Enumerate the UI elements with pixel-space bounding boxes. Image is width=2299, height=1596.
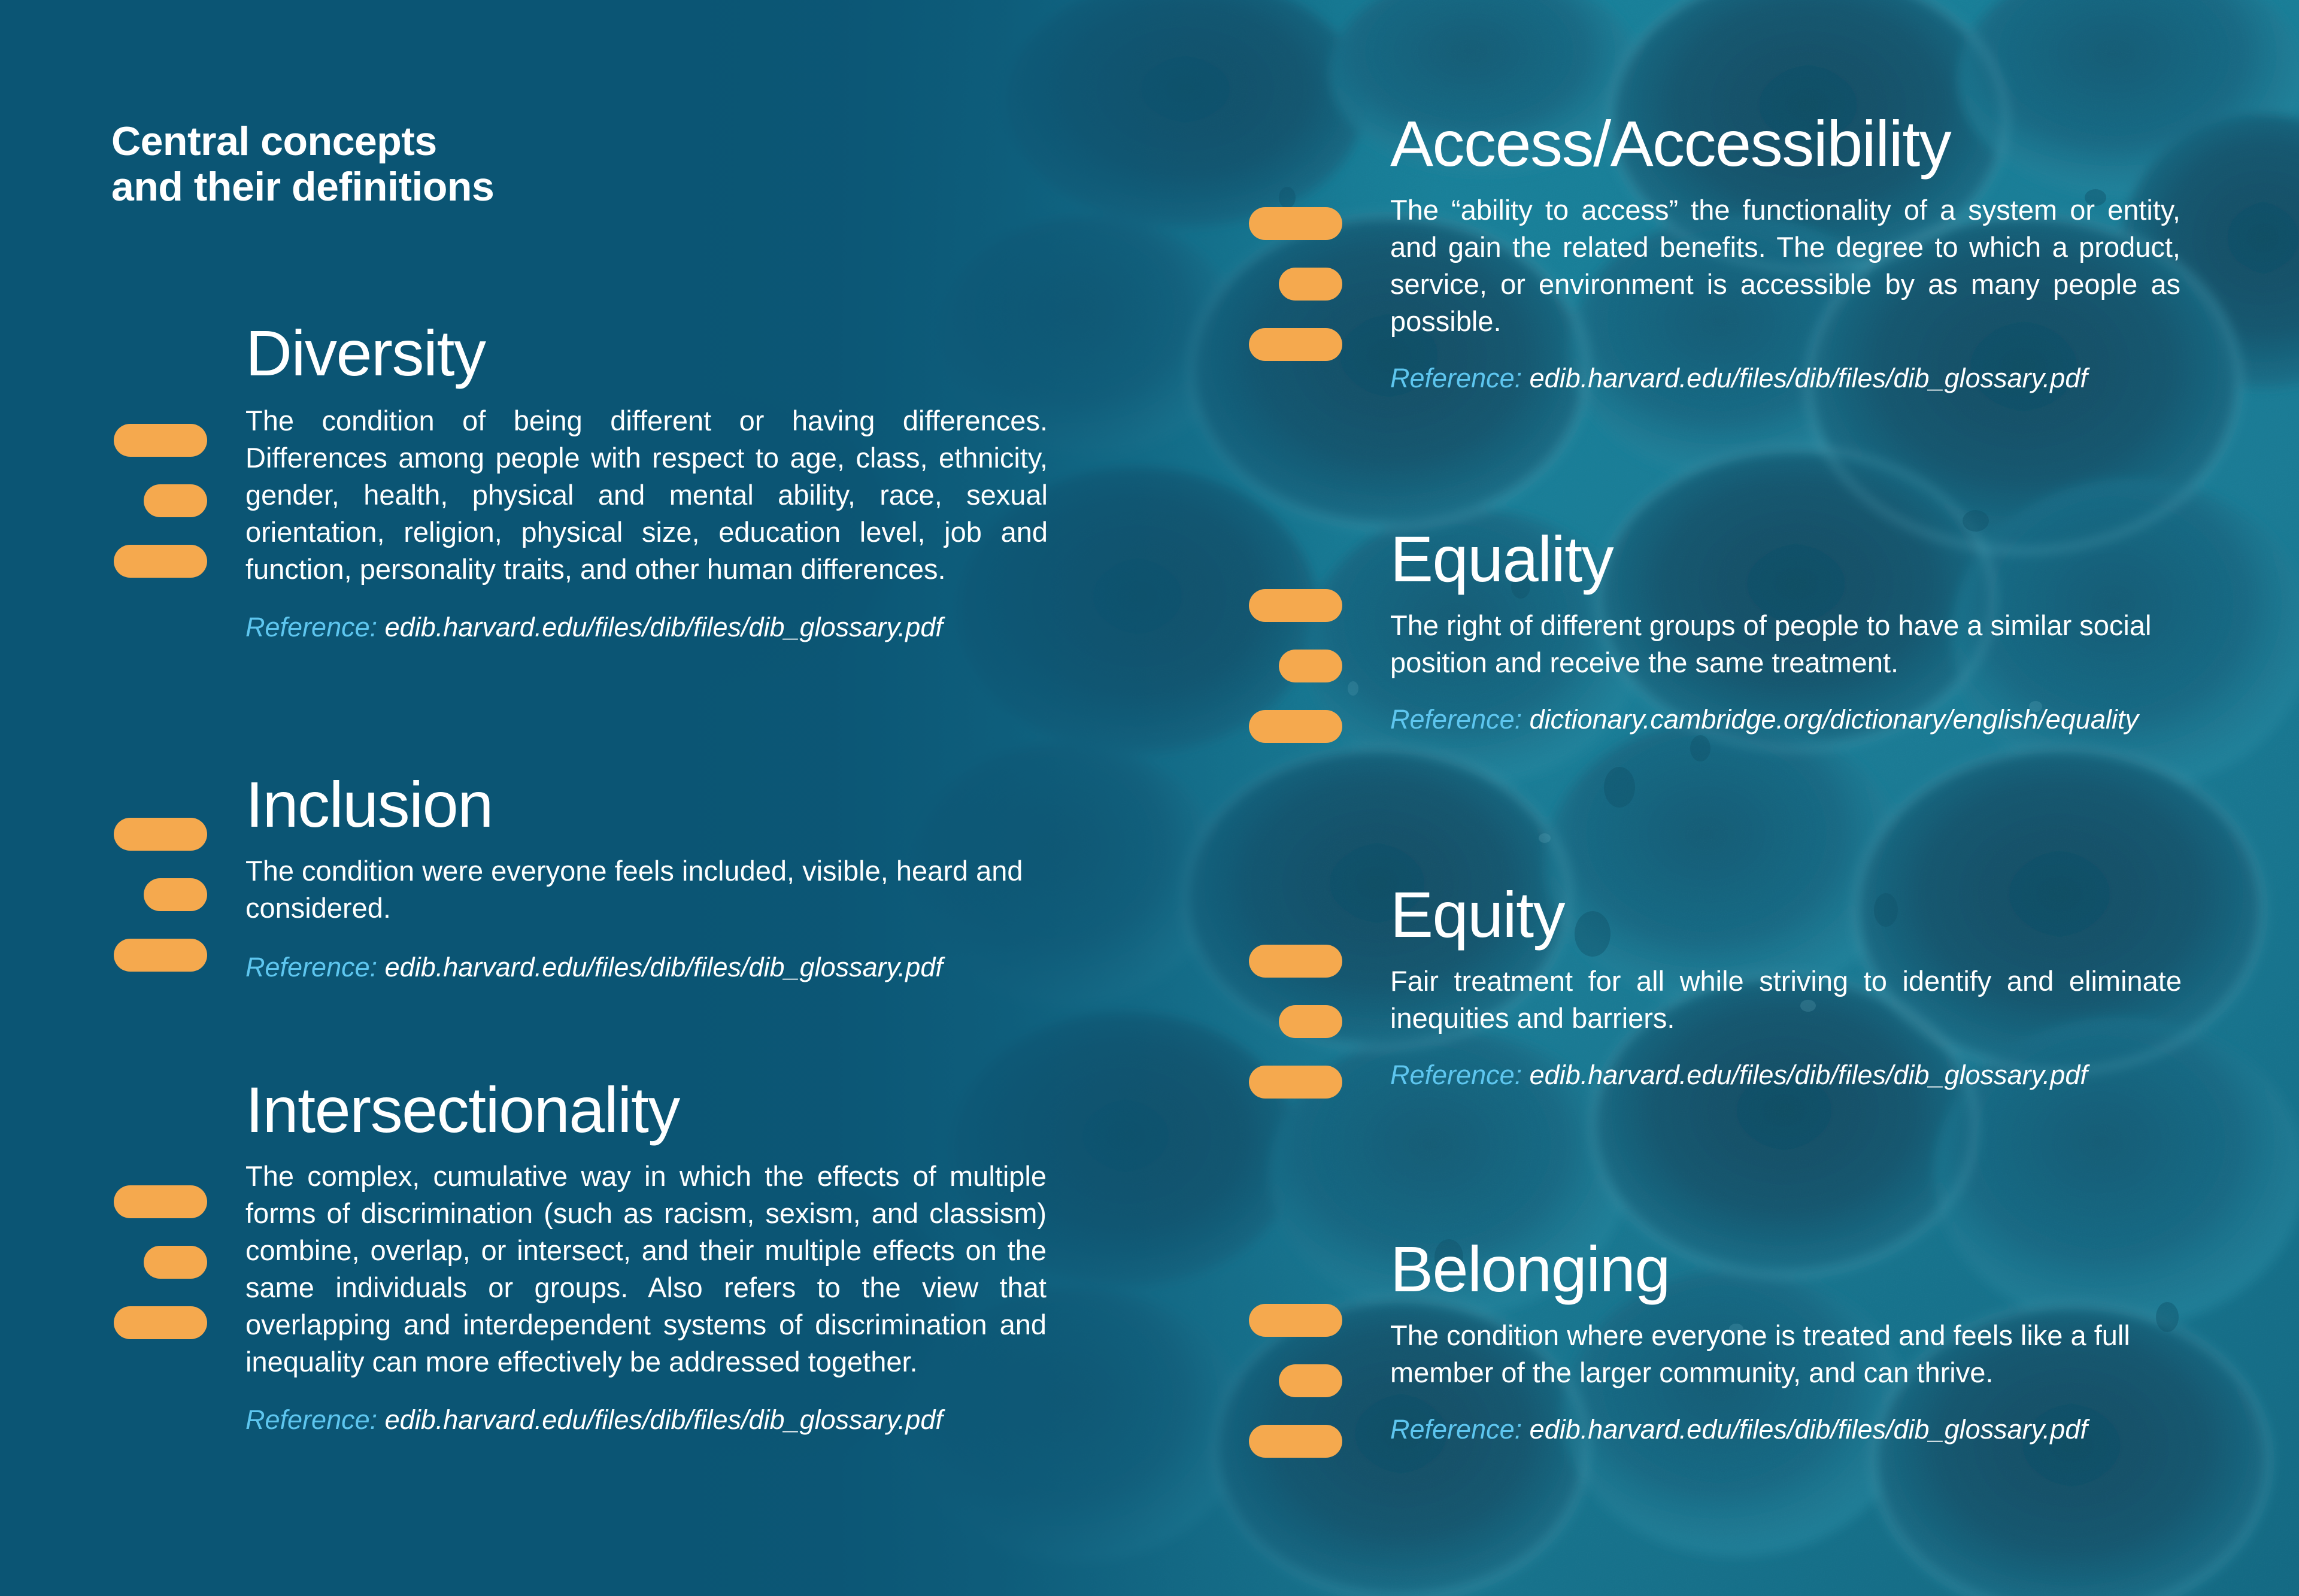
page-title-line-2: and their definitions: [111, 164, 770, 210]
concept-heading-access-accessibility: Access/Accessibility: [1390, 111, 2267, 176]
reference-url[interactable]: dictionary.cambridge.org/dictionary/engl…: [1530, 704, 2139, 735]
marker-bar-top: [1249, 589, 1342, 622]
reference-url[interactable]: edib.harvard.edu/files/dib/files/dib_glo…: [385, 952, 943, 982]
concept-heading-equity: Equity: [1390, 882, 2267, 947]
marker-bar-top: [1249, 207, 1342, 240]
page-title-line-1: Central concepts: [111, 119, 770, 164]
marker-bar-top: [114, 818, 207, 851]
marker-bar-bottom: [114, 545, 207, 578]
concept-card-diversity: Diversity The condition of being differe…: [0, 321, 1078, 671]
marker-bar-top: [114, 424, 207, 457]
concept-heading-equality: Equality: [1390, 527, 2267, 591]
reference-url[interactable]: edib.harvard.edu/files/dib/files/dib_glo…: [385, 612, 943, 642]
concept-definition-equality: The right of different groups of people …: [1390, 607, 2186, 681]
concept-definition-access-accessibility: The “ability to access” the functionalit…: [1390, 192, 2180, 340]
marker-bar-top: [1249, 1304, 1342, 1337]
bullet-marker-icon: [1249, 945, 1342, 1099]
bullet-marker-icon: [1249, 207, 1342, 361]
concept-reference-diversity: Reference: edib.harvard.edu/files/dib/fi…: [245, 611, 1078, 644]
reference-label: Reference:: [1390, 1414, 1522, 1445]
concept-heading-belonging: Belonging: [1390, 1237, 2267, 1301]
page-title: Central concepts and their definitions: [111, 119, 770, 210]
marker-bar-bottom: [1249, 328, 1342, 361]
marker-bar-top: [1249, 945, 1342, 978]
reference-url[interactable]: edib.harvard.edu/files/dib/files/dib_glo…: [1530, 1414, 2088, 1445]
marker-bar-bottom: [1249, 1425, 1342, 1458]
concept-card-intersectionality: Intersectionality The complex, cumulativ…: [0, 1078, 1078, 1464]
bullet-marker-icon: [114, 424, 207, 578]
concept-reference-access-accessibility: Reference: edib.harvard.edu/files/dib/fi…: [1390, 362, 2267, 395]
concept-definition-belonging: The condition where everyone is treated …: [1390, 1317, 2174, 1391]
bullet-marker-icon: [114, 1185, 207, 1339]
marker-bar-middle: [1279, 1005, 1342, 1038]
marker-bar-bottom: [1249, 1066, 1342, 1099]
concept-card-equity: Equity Fair treatment for all while stri…: [1249, 882, 2267, 1119]
marker-bar-bottom: [114, 939, 207, 972]
concept-heading-inclusion: Inclusion: [245, 772, 1078, 837]
bullet-marker-icon: [1249, 1304, 1342, 1458]
reference-label: Reference:: [245, 952, 377, 982]
concept-definition-intersectionality: The complex, cumulative way in which the…: [245, 1158, 1047, 1380]
concept-reference-intersectionality: Reference: edib.harvard.edu/files/dib/fi…: [245, 1403, 1078, 1437]
marker-bar-middle: [144, 484, 207, 517]
reference-label: Reference:: [245, 612, 377, 642]
concept-card-access-accessibility: Access/Accessibility The “ability to acc…: [1249, 111, 2267, 422]
reference-url[interactable]: edib.harvard.edu/files/dib/files/dib_glo…: [385, 1404, 943, 1435]
concept-definition-diversity: The condition of being different or havi…: [245, 402, 1048, 588]
marker-bar-bottom: [1249, 710, 1342, 743]
concept-reference-equity: Reference: edib.harvard.edu/files/dib/fi…: [1390, 1058, 2267, 1092]
concept-reference-inclusion: Reference: edib.harvard.edu/files/dib/fi…: [245, 951, 1078, 984]
concept-card-belonging: Belonging The condition where everyone i…: [1249, 1237, 2267, 1473]
reference-label: Reference:: [1390, 363, 1522, 393]
bullet-marker-icon: [114, 818, 207, 972]
marker-bar-middle: [144, 878, 207, 911]
bullet-marker-icon: [1249, 589, 1342, 743]
concept-card-equality: Equality The right of different groups o…: [1249, 527, 2267, 763]
marker-bar-top: [114, 1185, 207, 1218]
concept-definition-equity: Fair treatment for all while striving to…: [1390, 963, 2182, 1037]
concept-definition-inclusion: The condition were everyone feels includ…: [245, 852, 1024, 927]
marker-bar-middle: [144, 1246, 207, 1279]
reference-label: Reference:: [1390, 704, 1522, 735]
concept-heading-diversity: Diversity: [245, 321, 1078, 386]
reference-url[interactable]: edib.harvard.edu/files/dib/files/dib_glo…: [1530, 363, 2088, 393]
marker-bar-middle: [1279, 268, 1342, 301]
marker-bar-bottom: [114, 1306, 207, 1339]
concept-heading-intersectionality: Intersectionality: [245, 1078, 1078, 1142]
concept-reference-belonging: Reference: edib.harvard.edu/files/dib/fi…: [1390, 1413, 2267, 1446]
reference-url[interactable]: edib.harvard.edu/files/dib/files/dib_glo…: [1530, 1060, 2088, 1090]
reference-label: Reference:: [245, 1404, 377, 1435]
marker-bar-middle: [1279, 1364, 1342, 1397]
reference-label: Reference:: [1390, 1060, 1522, 1090]
concept-reference-equality: Reference: dictionary.cambridge.org/dict…: [1390, 703, 2267, 736]
concept-card-inclusion: Inclusion The condition were everyone fe…: [0, 772, 1078, 1011]
marker-bar-middle: [1279, 650, 1342, 682]
